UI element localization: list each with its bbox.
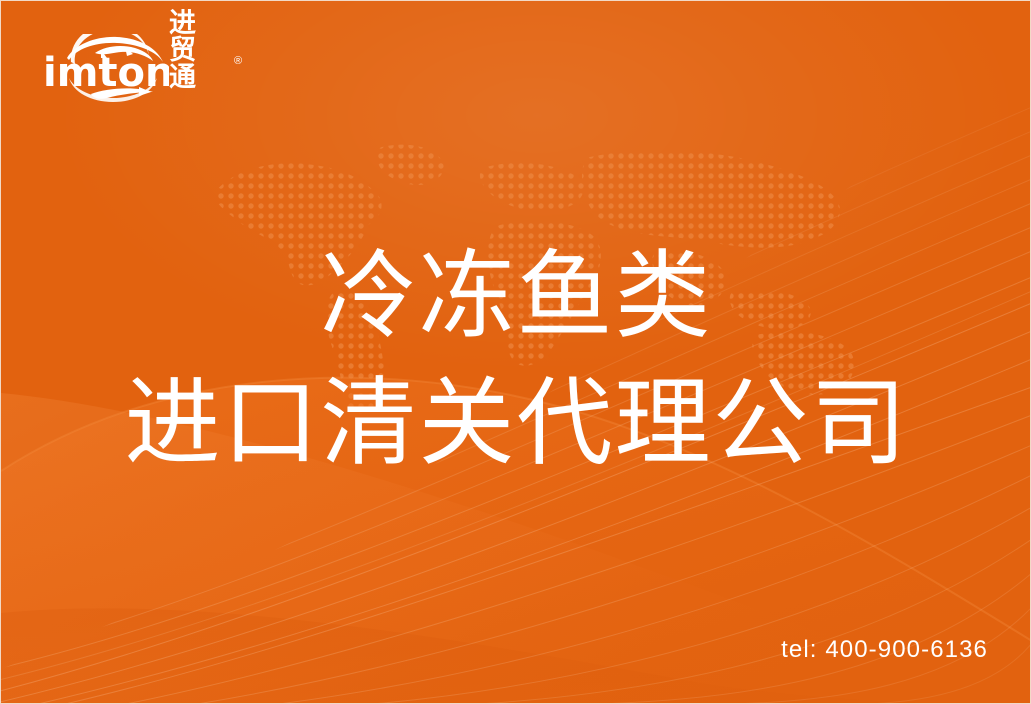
- headline: 冷冻鱼类 进口清关代理公司: [1, 233, 1031, 486]
- headline-line-2: 进口清关代理公司: [1, 360, 1031, 487]
- logo-chinese-name: 进贸通: [169, 10, 221, 91]
- brand-logo[interactable]: imton 进贸通 ®: [41, 34, 221, 102]
- globe-swoosh-icon: imton: [41, 34, 169, 102]
- registered-trademark-icon: ®: [234, 55, 242, 67]
- logo-wordmark: imton: [43, 50, 169, 96]
- promo-banner: imton 进贸通 ® 冷冻鱼类 进口清关代理公司 tel: 400-900-6…: [0, 0, 1031, 704]
- headline-line-1: 冷冻鱼类: [1, 233, 1031, 360]
- contact-phone: tel: 400-900-6136: [781, 636, 988, 664]
